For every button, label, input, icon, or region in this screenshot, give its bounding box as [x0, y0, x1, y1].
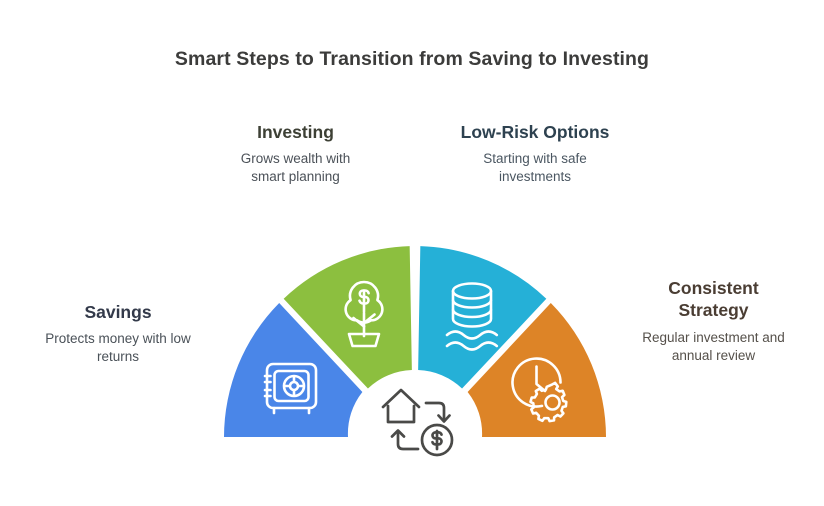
label-investing: Investing Grows wealth with smart planni…: [203, 121, 388, 186]
label-low-risk-description-line1: Starting with safe: [437, 150, 633, 168]
label-consistent-strategy-title: Consistent Strategy: [611, 277, 816, 322]
semicircle-donut-chart: [0, 0, 824, 506]
label-consistent-strategy-description: Regular investment and annual review: [611, 329, 816, 365]
label-consistent-strategy-title-line1: Consistent: [611, 277, 816, 299]
label-consistent-strategy: Consistent Strategy Regular investment a…: [611, 277, 816, 365]
label-consistent-strategy-title-line2: Strategy: [611, 299, 816, 321]
label-savings-description-line2: returns: [13, 348, 223, 366]
label-low-risk-title: Low-Risk Options: [437, 121, 633, 143]
label-investing-description: Grows wealth with smart planning: [203, 150, 388, 186]
label-savings: Savings Protects money with low returns: [13, 301, 223, 366]
label-savings-description: Protects money with low returns: [13, 330, 223, 366]
label-low-risk-description: Starting with safe investments: [437, 150, 633, 186]
label-investing-description-line2: smart planning: [203, 168, 388, 186]
label-consistent-strategy-description-line2: annual review: [611, 347, 816, 365]
label-low-risk-description-line2: investments: [437, 168, 633, 186]
label-investing-title: Investing: [203, 121, 388, 143]
label-low-risk-options: Low-Risk Options Starting with safe inve…: [437, 121, 633, 186]
label-consistent-strategy-description-line1: Regular investment and: [611, 329, 816, 347]
infographic-canvas: Smart Steps to Transition from Saving to…: [0, 0, 824, 506]
house-money-exchange-icon: [383, 390, 452, 455]
label-savings-title: Savings: [13, 301, 223, 323]
label-savings-description-line1: Protects money with low: [13, 330, 223, 348]
label-investing-description-line1: Grows wealth with: [203, 150, 388, 168]
